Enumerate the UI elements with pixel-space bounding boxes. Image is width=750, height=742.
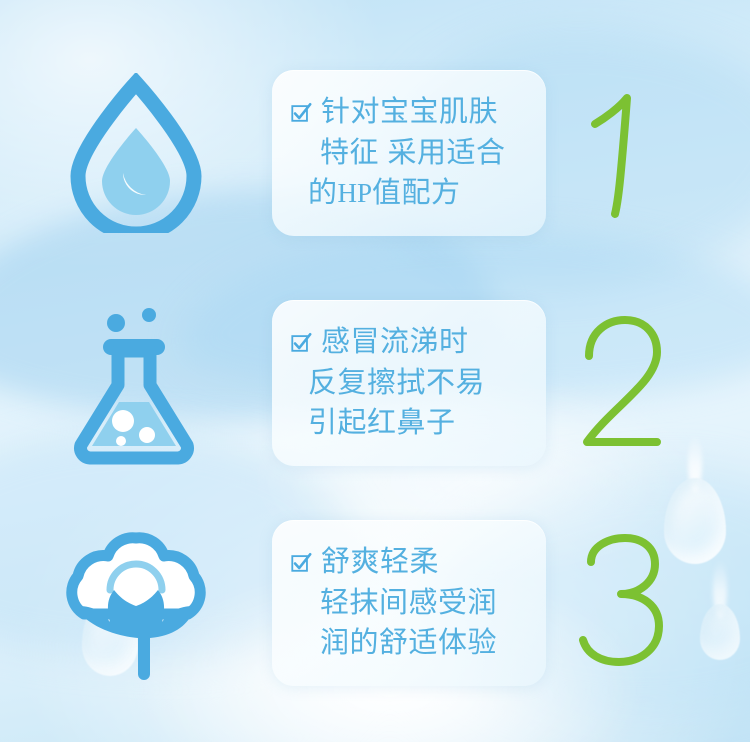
feature-line: 的HP值配方	[290, 174, 532, 213]
feature-card-1: 针对宝宝肌肤 特征 采用适合 的HP值配方	[272, 70, 546, 236]
feature-line-latin: HP	[338, 178, 373, 208]
numeral-1-glyph	[561, 78, 681, 228]
feature-card-1-lines: 针对宝宝肌肤 特征 采用适合 的HP值配方	[290, 93, 532, 214]
feature-number-1	[546, 78, 696, 228]
numeral-2-glyph	[561, 308, 681, 458]
feature-card-2: 感冒流涕时 反复擦拭不易 引起红鼻子	[272, 300, 546, 466]
cotton-boll-icon	[54, 518, 219, 688]
feature-row-3: 舒爽轻柔 轻抹间感受润 润的舒适体验	[0, 488, 750, 718]
lab-flask-icon	[61, 301, 211, 466]
product-feature-poster: 针对宝宝肌肤 特征 采用适合 的HP值配方	[0, 0, 750, 742]
feature-line-text-before: 的	[308, 177, 338, 209]
feature-line-text: 引起红鼻子	[308, 404, 456, 443]
feature-number-2	[546, 308, 696, 458]
feature-icon-slot-1	[0, 53, 272, 253]
feature-line-text: 轻抹间感受润	[320, 584, 497, 623]
water-drop-icon	[66, 73, 206, 233]
feature-line: 引起红鼻子	[290, 404, 532, 443]
feature-number-3	[546, 528, 696, 678]
feature-row-2: 感冒流涕时 反复擦拭不易 引起红鼻子	[0, 268, 750, 498]
feature-card-2-lines: 感冒流涕时 反复擦拭不易 引起红鼻子	[290, 323, 532, 444]
feature-line-text: 反复擦拭不易	[308, 364, 485, 403]
feature-icon-slot-2	[0, 283, 272, 483]
feature-line: 特征 采用适合	[290, 134, 532, 173]
feature-card-3: 舒爽轻柔 轻抹间感受润 润的舒适体验	[272, 520, 546, 686]
feature-line-text: 润的舒适体验	[320, 624, 497, 663]
feature-line: 针对宝宝肌肤	[290, 93, 532, 132]
feature-line: 反复擦拭不易	[290, 364, 532, 403]
feature-card-3-lines: 舒爽轻柔 轻抹间感受润 润的舒适体验	[290, 543, 532, 664]
checkbox-checked-icon	[290, 332, 312, 354]
checkbox-checked-icon	[290, 552, 312, 574]
feature-line: 轻抹间感受润	[290, 584, 532, 623]
feature-line-text: 针对宝宝肌肤	[321, 93, 498, 132]
feature-line: 舒爽轻柔	[290, 543, 532, 582]
feature-line: 感冒流涕时	[290, 323, 532, 362]
feature-row-1: 针对宝宝肌肤 特征 采用适合 的HP值配方	[0, 38, 750, 268]
feature-line-text: 感冒流涕时	[321, 323, 469, 362]
feature-line: 润的舒适体验	[290, 624, 532, 663]
numeral-3-glyph	[561, 528, 681, 678]
feature-icon-slot-3	[0, 503, 272, 703]
feature-line-text: 特征 采用适合	[320, 134, 506, 173]
feature-line-text: 舒爽轻柔	[321, 543, 439, 582]
feature-line-text-after: 值配方	[372, 177, 461, 209]
checkbox-checked-icon	[290, 102, 312, 124]
